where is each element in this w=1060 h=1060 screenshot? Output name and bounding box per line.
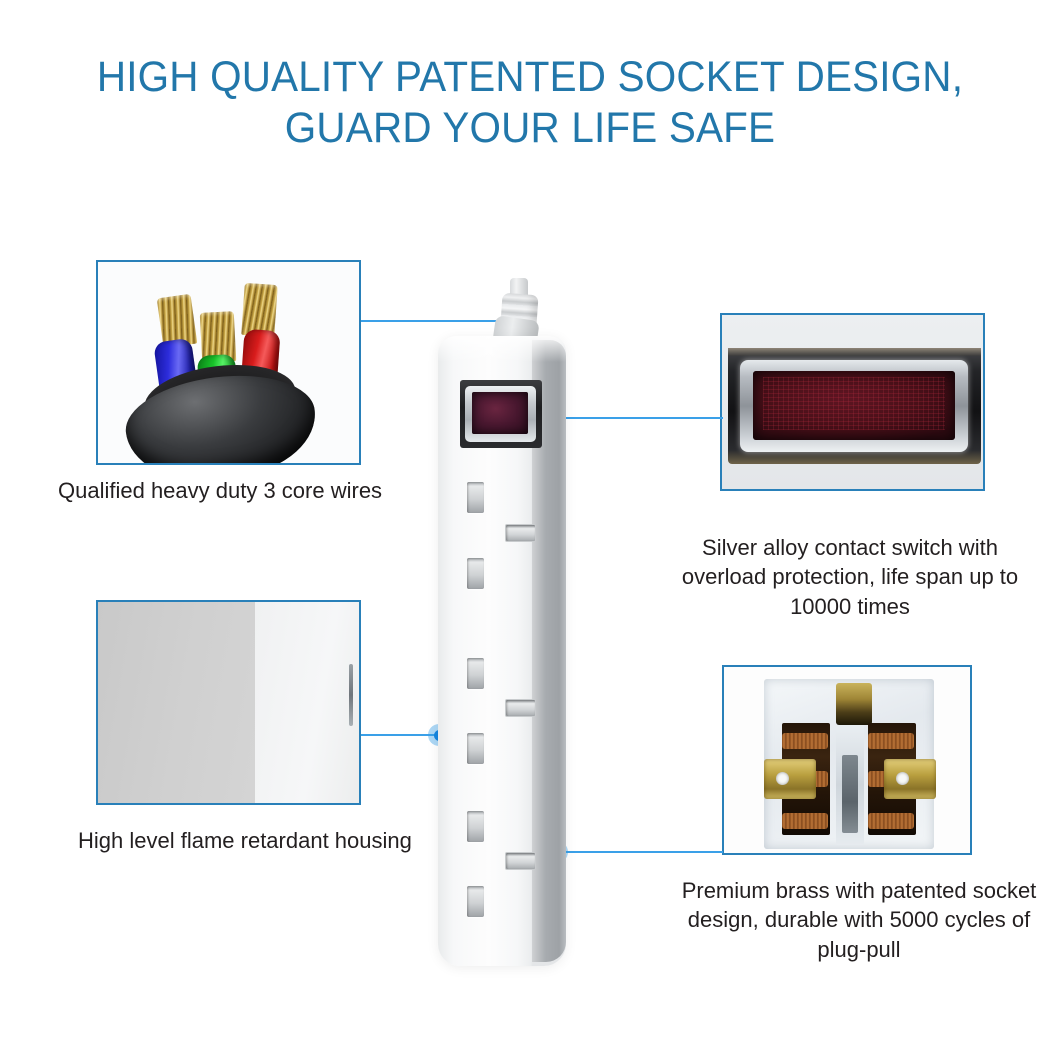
socket-3-live-slot — [505, 852, 536, 870]
copper-coil-4 — [868, 733, 914, 749]
socket-3-neutral-slot — [467, 886, 484, 917]
brass-image — [724, 667, 970, 853]
title-line-1: HIGH QUALITY PATENTED SOCKET DESIGN, — [32, 52, 1028, 103]
housing-surface-highlight — [255, 602, 359, 803]
housing-edge-detail — [349, 664, 353, 726]
housing-surface-shadow — [98, 602, 255, 803]
brass-terminal-left — [764, 759, 816, 799]
socket-2-earth-slot — [467, 658, 484, 689]
socket-3-earth-slot — [467, 811, 484, 842]
strip-top-bevel — [438, 336, 566, 362]
switch-stage — [722, 315, 983, 489]
feature-panel-brass — [722, 665, 972, 855]
product-switch-indicator[interactable] — [472, 392, 528, 434]
cable-stage — [98, 262, 359, 463]
product-power-strip — [432, 278, 600, 968]
caption-cable: Qualified heavy duty 3 core wires — [58, 476, 458, 505]
switch-image — [722, 315, 983, 489]
center-earth-pin — [842, 755, 858, 833]
switch-metal-strip — [728, 348, 981, 356]
caption-switch: Silver alloy contact switch with overloa… — [664, 533, 1036, 621]
infographic-page: HIGH QUALITY PATENTED SOCKET DESIGN, GUA… — [0, 0, 1060, 1060]
page-title: HIGH QUALITY PATENTED SOCKET DESIGN, GUA… — [0, 52, 1060, 153]
brass-terminal-right — [884, 759, 936, 799]
socket-2-neutral-slot — [467, 733, 484, 764]
socket-1-neutral-slot — [467, 558, 484, 589]
brass-stage — [724, 667, 970, 853]
cable-image — [98, 262, 359, 463]
feature-panel-cable — [96, 260, 361, 465]
housing-image — [98, 602, 359, 803]
copper-coil-3 — [782, 813, 828, 829]
feature-panel-housing — [96, 600, 361, 805]
socket-1-earth-slot — [467, 482, 484, 513]
socket-2-live-slot — [505, 699, 536, 717]
copper-coil-1 — [782, 733, 828, 749]
caption-housing: High level flame retardant housing — [78, 826, 478, 855]
brass-top-clip — [836, 683, 872, 725]
feature-panel-switch — [720, 313, 985, 491]
switch-red-window — [753, 371, 955, 440]
title-line-2: GUARD YOUR LIFE SAFE — [32, 103, 1028, 154]
caption-brass: Premium brass with patented socket desig… — [678, 876, 1040, 964]
copper-coil-6 — [868, 813, 914, 829]
socket-1-live-slot — [505, 524, 536, 542]
